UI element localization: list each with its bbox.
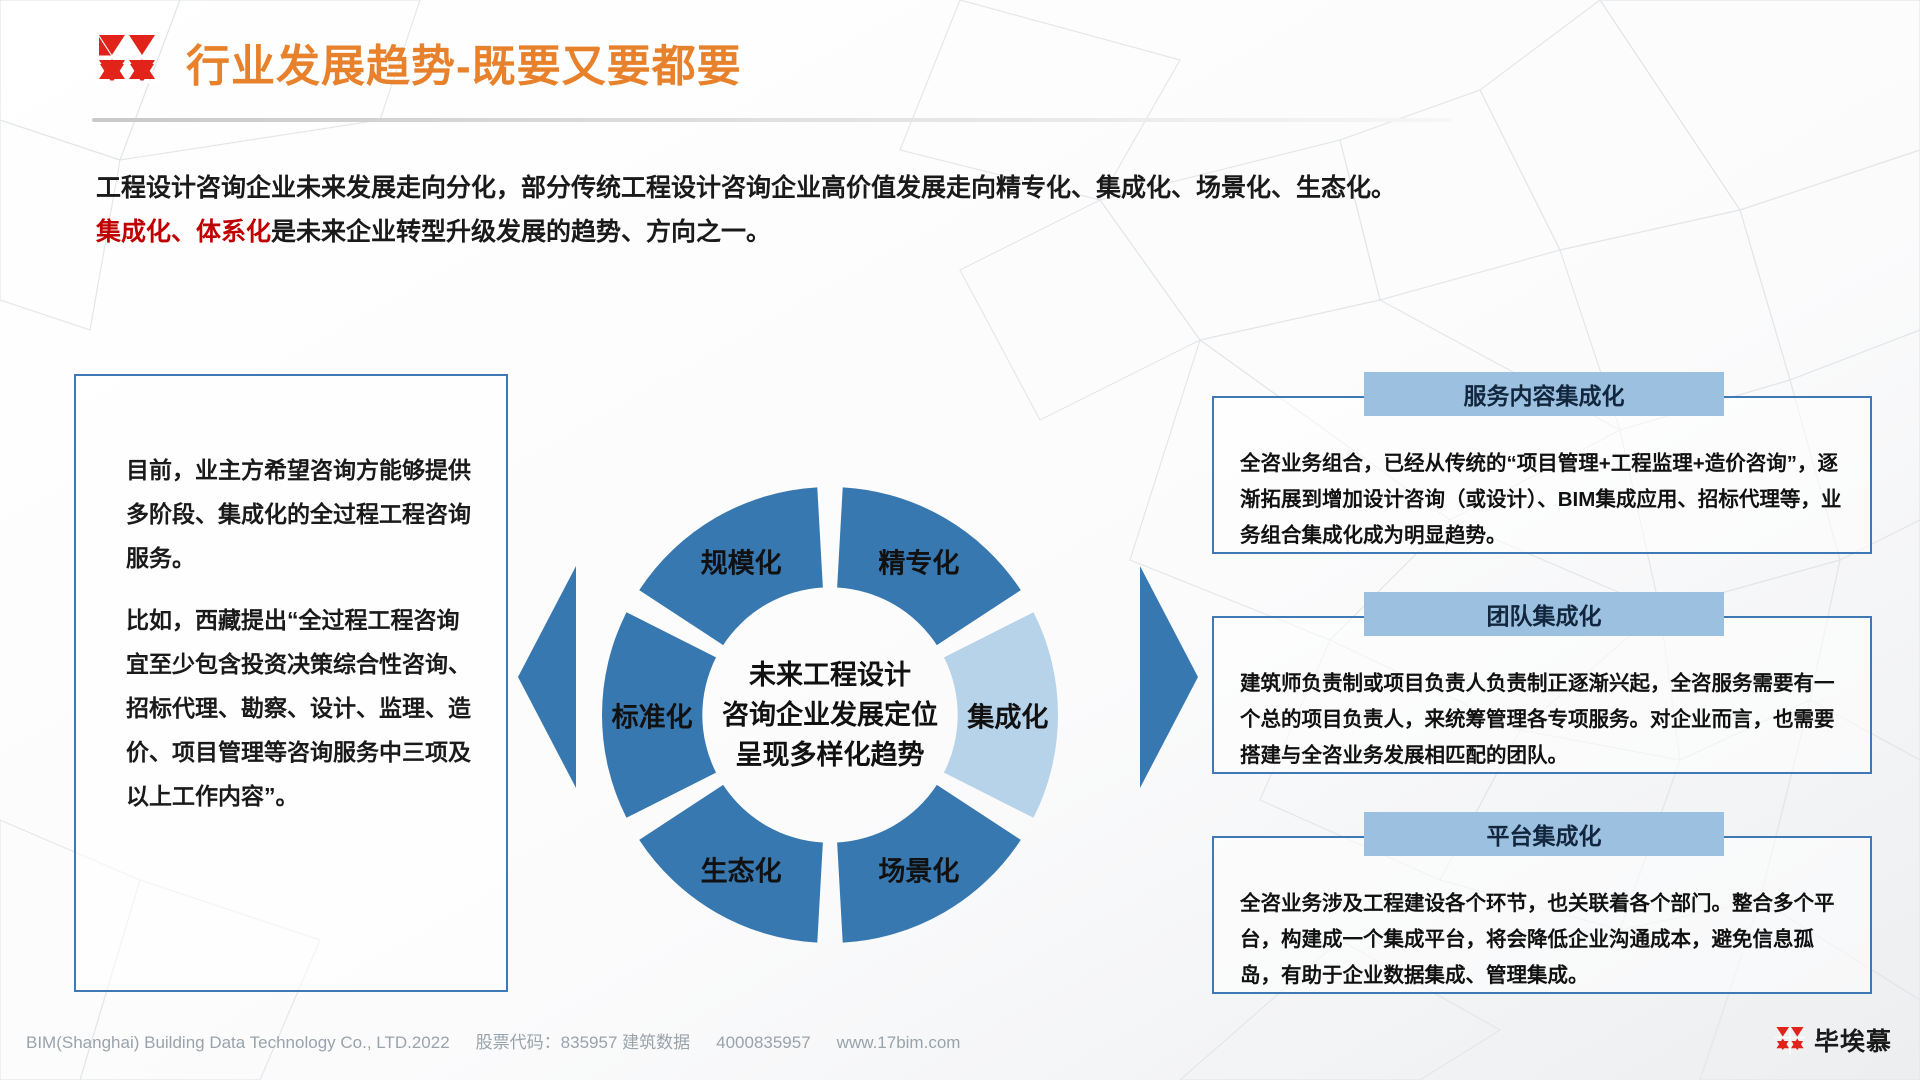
donut-segment-label-3: 场景化 <box>878 850 959 889</box>
donut-segment-label-6: 规模化 <box>701 541 782 580</box>
info-card-title: 团队集成化 <box>1364 592 1724 636</box>
footer-website: www.17bim.com <box>837 1033 961 1052</box>
donut-segment-label-1: 精专化 <box>878 541 959 580</box>
intro-line-1: 工程设计咨询企业未来发展走向分化，部分传统工程设计咨询企业高价值发展走向精专化、… <box>96 166 1836 210</box>
footer-stock-code: 股票代码：835957 建筑数据 <box>476 1033 690 1052</box>
page-title: 行业发展趋势-既要又要都要 <box>186 30 742 94</box>
info-card-title: 服务内容集成化 <box>1364 372 1724 416</box>
info-card-title: 平台集成化 <box>1364 812 1724 856</box>
bim-triangles-logo-icon <box>1775 1026 1805 1054</box>
intro-paragraph: 工程设计咨询企业未来发展走向分化，部分传统工程设计咨询企业高价值发展走向精专化、… <box>96 166 1836 254</box>
donut-chart: 未来工程设计 咨询企业发展定位 呈现多样化趋势 精专化集成化场景化生态化标准化规… <box>560 450 1100 980</box>
donut-segment-label-2: 集成化 <box>967 696 1048 735</box>
bim-triangles-logo-icon <box>96 33 158 91</box>
footer-brand-logo: 毕埃慕 <box>1775 1022 1892 1058</box>
donut-segment-label-5: 标准化 <box>612 696 693 735</box>
left-description-box: 目前，业主方希望咨询方能够提供多阶段、集成化的全过程工程咨询服务。 比如，西藏提… <box>74 374 508 992</box>
footer-company-en: BIM(Shanghai) Building Data Technology C… <box>26 1033 450 1052</box>
info-card: 服务内容集成化 全咨业务组合，已经从传统的“项目管理+工程监理+造价咨询”，逐渐… <box>1212 396 1872 554</box>
footer-logo-word: 毕埃慕 <box>1814 1022 1892 1058</box>
left-box-paragraph-2: 比如，西藏提出“全过程工程咨询宜至少包含投资决策综合性咨询、招标代理、勘察、设计… <box>126 598 472 818</box>
title-divider <box>92 118 1452 122</box>
info-card-body: 全咨业务涉及工程建设各个环节，也关联着各个部门。整合多个平台，构建成一个集成平台… <box>1214 838 1870 1016</box>
page-header: 行业发展趋势-既要又要都要 <box>0 0 1920 130</box>
donut-segment-label-4: 生态化 <box>701 850 782 889</box>
info-card-body: 全咨业务组合，已经从传统的“项目管理+工程监理+造价咨询”，逐渐拓展到增加设计咨… <box>1214 398 1870 576</box>
footer-phone: 4000835957 <box>716 1033 811 1052</box>
intro-line-2: 集成化、体系化是未来企业转型升级发展的趋势、方向之一。 <box>96 210 1836 254</box>
info-card: 团队集成化 建筑师负责制或项目负责人负责制正逐渐兴起，全咨服务需要有一个总的项目… <box>1212 616 1872 774</box>
intro-accent-text: 集成化、体系化 <box>96 218 271 246</box>
right-pointing-arrow-icon <box>1140 566 1198 788</box>
footer-text: BIM(Shanghai) Building Data Technology C… <box>26 1028 986 1053</box>
left-box-paragraph-1: 目前，业主方希望咨询方能够提供多阶段、集成化的全过程工程咨询服务。 <box>126 448 472 580</box>
info-card-body: 建筑师负责制或项目负责人负责制正逐渐兴起，全咨服务需要有一个总的项目负责人，来统… <box>1214 618 1870 796</box>
info-card: 平台集成化 全咨业务涉及工程建设各个环节，也关联着各个部门。整合多个平台，构建成… <box>1212 836 1872 994</box>
intro-line-2-rest: 是未来企业转型升级发展的趋势、方向之一。 <box>271 218 771 246</box>
